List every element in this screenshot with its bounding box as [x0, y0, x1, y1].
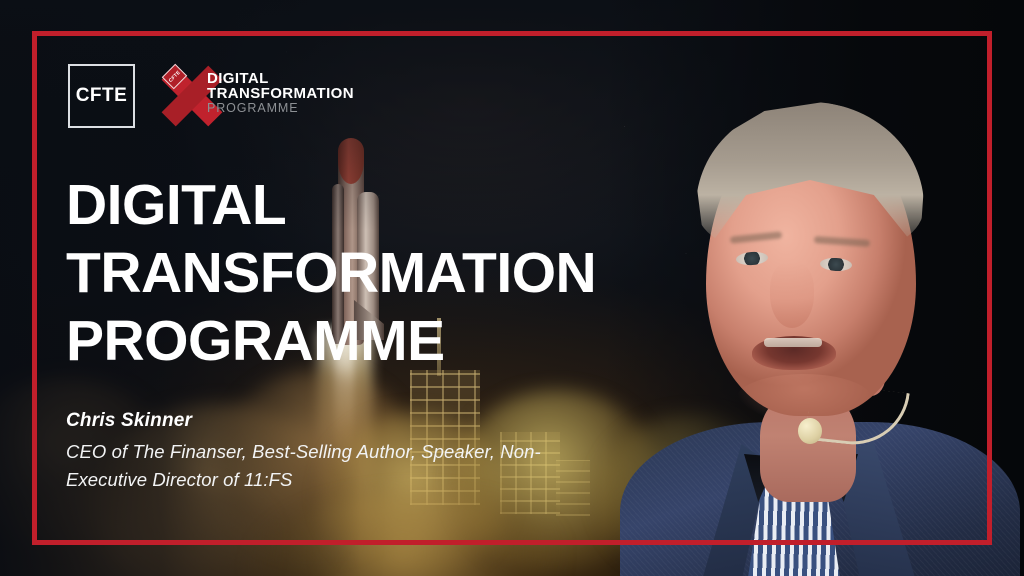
nose — [770, 262, 814, 328]
speaker-name: Chris Skinner — [66, 410, 606, 432]
title-line-2: TRANSFORMATION — [66, 240, 686, 308]
logo-line-transformation: TRANSFORMATION — [207, 86, 354, 101]
teeth — [764, 338, 822, 347]
cfte-logo[interactable]: CFTE — [68, 64, 135, 128]
speaker-role: CEO of The Finanser, Best-Selling Author… — [66, 438, 606, 494]
speaker-caption: Chris Skinner CEO of The Finanser, Best-… — [66, 410, 606, 494]
headset-microphone-capsule — [798, 418, 822, 444]
logo-group: CFTE CFTE DIGITAL TRANSFORMATION PROGRAM… — [68, 64, 321, 128]
title-line-3: PROGRAMME — [66, 308, 686, 376]
logo-wordmark: DIGITAL TRANSFORMATION PROGRAMME — [207, 71, 354, 114]
cfte-badge-label: CFTE — [167, 69, 181, 83]
digital-transformation-programme-logo[interactable]: CFTE DIGITAL TRANSFORMATION PROGRAMME — [161, 65, 321, 127]
page-title: DIGITAL TRANSFORMATION PROGRAMME — [66, 172, 686, 375]
logo-line-digital: DIGITAL — [207, 71, 354, 86]
presentation-slide: CFTE CFTE DIGITAL TRANSFORMATION PROGRAM… — [0, 0, 1024, 576]
cfte-logo-label: CFTE — [76, 85, 128, 107]
logo-line-programme: PROGRAMME — [207, 102, 354, 115]
title-line-1: DIGITAL — [66, 172, 686, 240]
